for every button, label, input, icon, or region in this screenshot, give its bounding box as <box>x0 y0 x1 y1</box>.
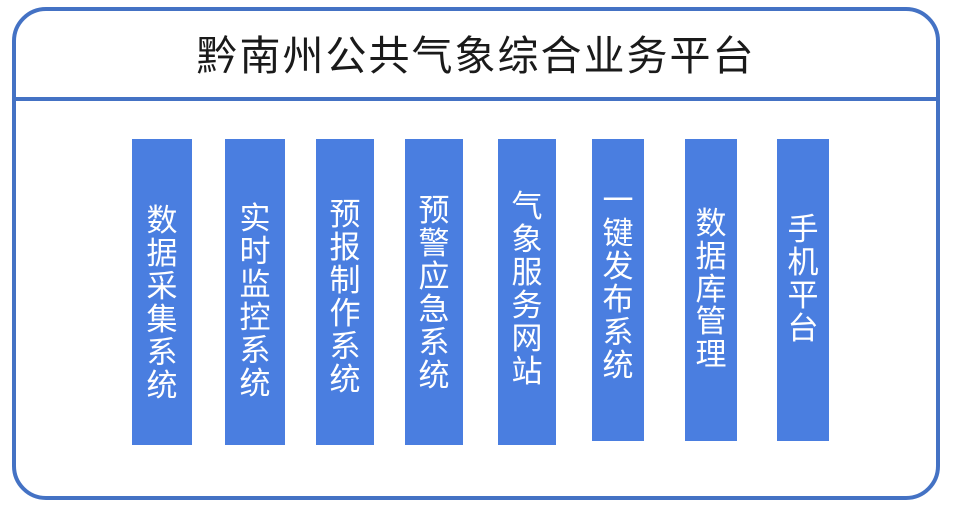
module-bar-label: 预 警 应 急 系 统 <box>405 141 463 447</box>
module-bar-mobile-platform[interactable]: 手 机 平 台 <box>777 139 829 441</box>
module-bar-label: 数 据 采 集 系 统 <box>132 151 192 457</box>
module-bar-warning-emergency-system[interactable]: 预 警 应 急 系 统 <box>405 139 463 445</box>
header-band: 黔南州公共气象综合业务平台 <box>14 9 938 100</box>
module-bar-label: 一 键 发 布 系 统 <box>592 133 644 435</box>
module-bar-label: 气 象 服 务 网 站 <box>498 137 556 443</box>
module-bar-data-acquisition-system[interactable]: 数 据 采 集 系 统 <box>132 139 192 445</box>
module-bar-weather-service-website[interactable]: 气 象 服 务 网 站 <box>498 139 556 445</box>
module-bar-label: 实 时 监 控 系 统 <box>225 149 285 455</box>
header-divider <box>14 97 938 101</box>
page-title: 黔南州公共气象综合业务平台 <box>197 36 756 77</box>
module-bar-label: 预 报 制 作 系 统 <box>316 145 374 451</box>
module-bar-one-click-release-system[interactable]: 一 键 发 布 系 统 <box>592 139 644 441</box>
module-bar-forecast-production-system[interactable]: 预 报 制 作 系 统 <box>316 139 374 445</box>
module-bar-label: 数 据 库 管 理 <box>685 139 737 441</box>
module-bar-database-management[interactable]: 数 据 库 管 理 <box>685 139 737 441</box>
module-bar-realtime-monitoring-system[interactable]: 实 时 监 控 系 统 <box>225 139 285 445</box>
module-bar-label: 手 机 平 台 <box>777 129 829 431</box>
diagram-canvas: 黔南州公共气象综合业务平台 数 据 采 集 系 统实 时 监 控 系 统预 报 … <box>0 0 953 515</box>
